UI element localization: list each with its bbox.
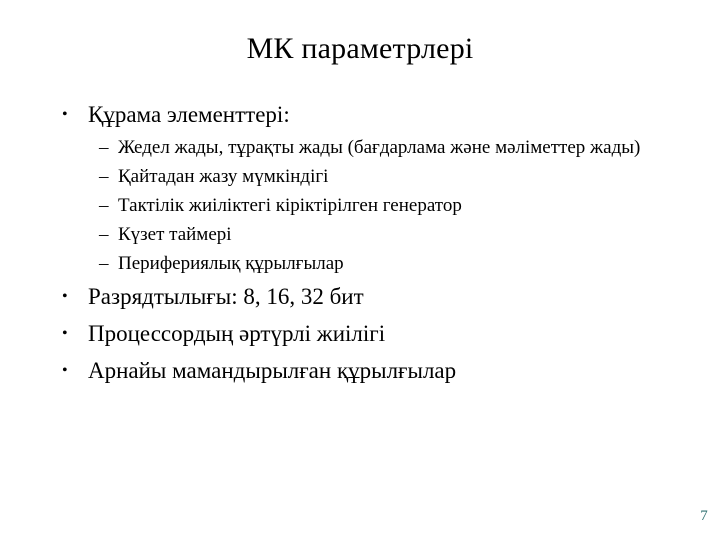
dash-marker-icon: – bbox=[99, 162, 109, 191]
sub-bullet-label: Күзет таймері bbox=[118, 220, 670, 249]
sub-bullet-group-1: – Жедел жады, тұрақты жады (бағдарлама ж… bbox=[0, 133, 720, 278]
bullet-marker-icon: • bbox=[62, 278, 68, 315]
bullet-label: Процессордың әртүрлі жиілігі bbox=[88, 321, 385, 346]
bullet-item-1: • Құрама элементтері: bbox=[0, 96, 720, 133]
sub-bullet-item-1-3: – Тактілік жиіліктегі кіріктірілген гене… bbox=[0, 191, 720, 220]
sub-bullet-label: Қайтадан жазу мүмкіндігі bbox=[118, 162, 670, 191]
sub-bullet-label: Тактілік жиіліктегі кіріктірілген генера… bbox=[118, 191, 670, 220]
page-number: 7 bbox=[694, 506, 714, 526]
bullet-label: Разрядтылығы: 8, 16, 32 бит bbox=[88, 284, 364, 309]
bullet-item-2: • Разрядтылығы: 8, 16, 32 бит bbox=[0, 278, 720, 315]
sub-bullet-label: Перифериялық құрылғылар bbox=[118, 249, 670, 278]
dash-marker-icon: – bbox=[99, 191, 109, 220]
bullet-item-4: • Арнайы мамандырылған құрылғылар bbox=[0, 352, 720, 389]
bullet-marker-icon: • bbox=[62, 352, 68, 389]
sub-bullet-item-1-2: – Қайтадан жазу мүмкіндігі bbox=[0, 162, 720, 191]
presentation-slide: МК параметрлері • Құрама элементтері: – … bbox=[0, 0, 720, 540]
sub-bullet-item-1-4: – Күзет таймері bbox=[0, 220, 720, 249]
slide-title: МК параметрлері bbox=[0, 30, 720, 68]
sub-bullet-label: Жедел жады, тұрақты жады (бағдарлама жән… bbox=[118, 133, 670, 162]
sub-bullet-item-1-5: – Перифериялық құрылғылар bbox=[0, 249, 720, 278]
bullet-label: Құрама элементтері: bbox=[88, 102, 290, 127]
bullet-item-3: • Процессордың әртүрлі жиілігі bbox=[0, 315, 720, 352]
dash-marker-icon: – bbox=[99, 249, 109, 278]
bullet-marker-icon: • bbox=[62, 96, 68, 133]
dash-marker-icon: – bbox=[99, 133, 109, 162]
dash-marker-icon: – bbox=[99, 220, 109, 249]
bullet-label: Арнайы мамандырылған құрылғылар bbox=[88, 358, 456, 383]
slide-body: • Құрама элементтері: – Жедел жады, тұра… bbox=[0, 96, 720, 389]
sub-bullet-item-1-1: – Жедел жады, тұрақты жады (бағдарлама ж… bbox=[0, 133, 720, 162]
bullet-marker-icon: • bbox=[62, 315, 68, 352]
